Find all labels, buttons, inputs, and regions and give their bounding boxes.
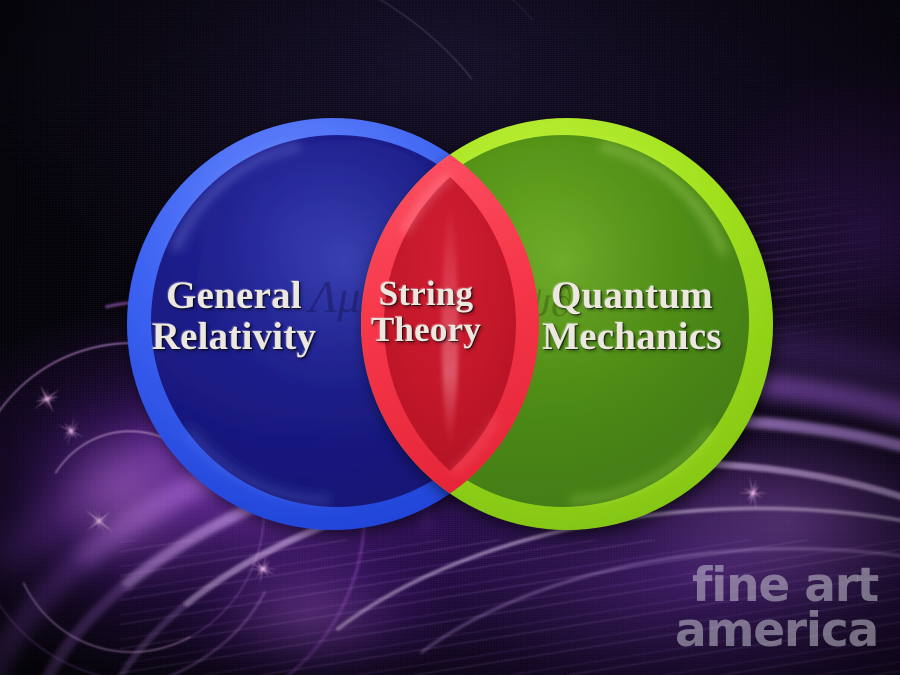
venn-diagram: Λμ ψ∂: [0, 0, 900, 675]
artwork-canvas: Λμ ψ∂: [0, 0, 900, 675]
ghost-equation-left-group: Λμ: [306, 271, 361, 322]
ghost-equation-left: Λμ: [306, 271, 361, 322]
